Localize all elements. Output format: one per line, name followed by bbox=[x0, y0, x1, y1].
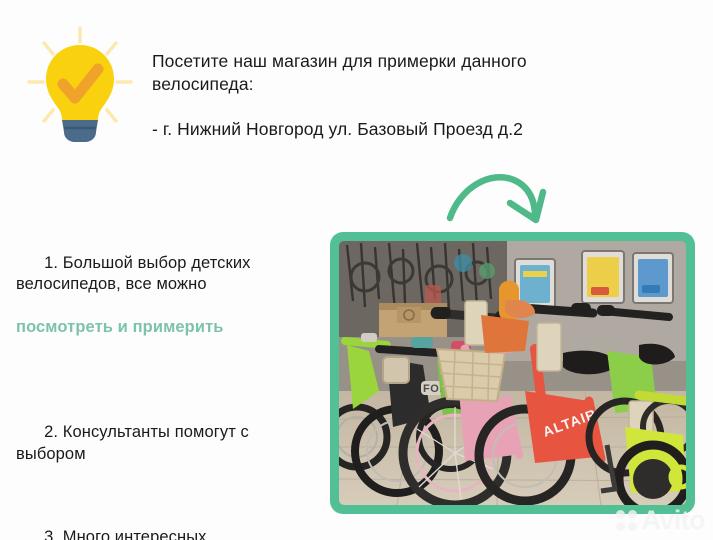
header-line-1: Посетите наш магазин для примерки данног… bbox=[152, 50, 697, 73]
benefits-list: 1. Большой выбор детских велосипедов, вс… bbox=[16, 231, 306, 540]
bike-shop-photo-frame: FORWARD bbox=[330, 232, 695, 514]
benefit-text: 2. Консультанты помогут с выбором bbox=[16, 423, 249, 463]
bulb-base-shape bbox=[62, 120, 98, 142]
benefit-text: 3. Много интересных аксессуаров bbox=[16, 528, 207, 540]
benefit-text: 1. Большой выбор детских велосипедов, вс… bbox=[16, 254, 251, 294]
curved-arrow-down-right-icon bbox=[446, 162, 566, 230]
benefit-accent: посмотреть и примерить bbox=[16, 317, 306, 339]
header-text-block: Посетите наш магазин для примерки данног… bbox=[152, 50, 697, 141]
header-line-2: велосипеда: bbox=[152, 73, 697, 96]
shop-address: - г. Нижний Новгород ул. Базовый Проезд … bbox=[152, 118, 697, 141]
list-item: 1. Большой выбор детских велосипедов, вс… bbox=[16, 231, 306, 382]
list-item: 2. Консультанты помогут с выбором bbox=[16, 401, 306, 487]
bulb-glass-shape bbox=[46, 45, 114, 120]
advert-canvas: Посетите наш магазин для примерки данног… bbox=[0, 0, 713, 540]
bike-shop-photo: FORWARD bbox=[339, 241, 686, 505]
list-item: 3. Много интересных аксессуаров bbox=[16, 506, 306, 540]
lightbulb-check-icon bbox=[22, 22, 138, 148]
